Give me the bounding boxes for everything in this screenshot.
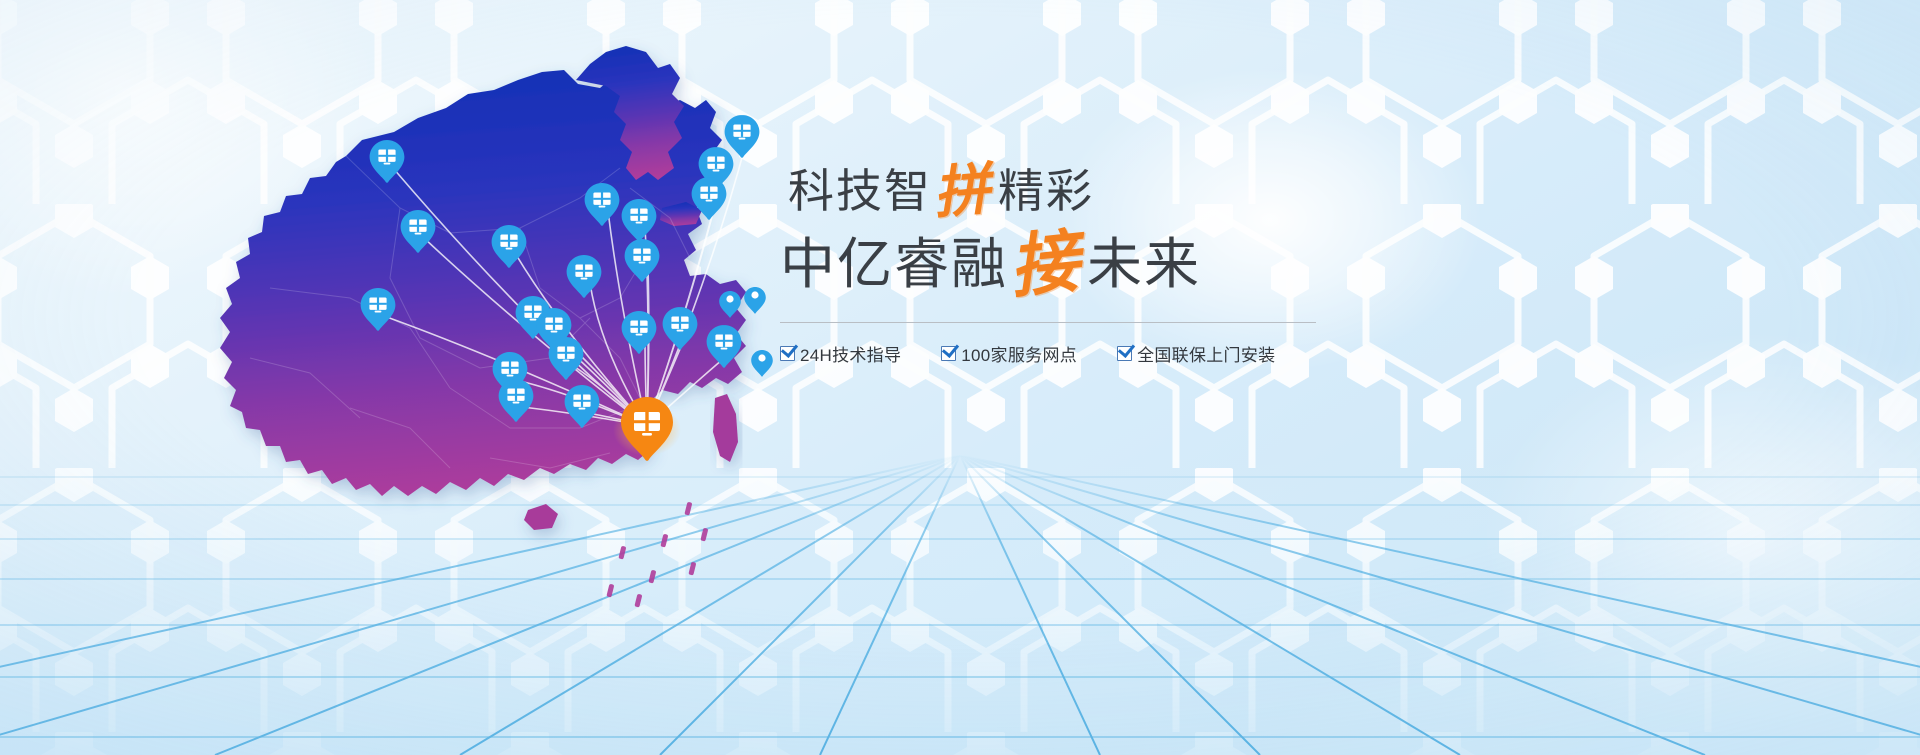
headline-line-1: 科技智拼精彩 xyxy=(780,168,1340,215)
headline-line1-pre: 科技智 xyxy=(788,166,932,217)
headline-line2-accent: 接 xyxy=(1006,227,1084,303)
section-divider xyxy=(780,322,1316,323)
promo-banner: 科技智拼精彩 中亿睿融接未来 24H技术指导100家服务网点全国联保上门安装 xyxy=(0,0,1920,755)
map-pin-small[interactable] xyxy=(744,287,766,313)
checkbox-checked-icon xyxy=(1117,346,1132,361)
feature-label: 全国联保上门安装 xyxy=(1137,341,1275,366)
feature-label: 24H技术指导 xyxy=(800,341,901,366)
map-pin-small[interactable] xyxy=(751,350,773,376)
feature-item-3: 全国联保上门安装 xyxy=(1117,341,1275,366)
service-location-marker[interactable] xyxy=(725,115,760,158)
china-service-network-map xyxy=(150,28,830,618)
headline-line-2: 中亿睿融接未来 xyxy=(780,237,1340,292)
headline-block: 科技智拼精彩 中亿睿融接未来 24H技术指导100家服务网点全国联保上门安装 xyxy=(780,168,1340,366)
headline-line2-pre: 中亿睿融 xyxy=(780,234,1008,295)
feature-label: 100家服务网点 xyxy=(961,341,1077,366)
checkbox-checked-icon xyxy=(780,346,795,361)
headline-line2-post: 未来 xyxy=(1087,234,1201,295)
feature-item-1: 24H技术指导 xyxy=(780,341,901,366)
feature-list: 24H技术指导100家服务网点全国联保上门安装 xyxy=(780,341,1340,366)
headline-line1-post: 精彩 xyxy=(998,166,1094,217)
feature-item-2: 100家服务网点 xyxy=(941,341,1077,366)
checkbox-checked-icon xyxy=(941,346,956,361)
headline-line1-accent: 拼 xyxy=(931,161,994,222)
